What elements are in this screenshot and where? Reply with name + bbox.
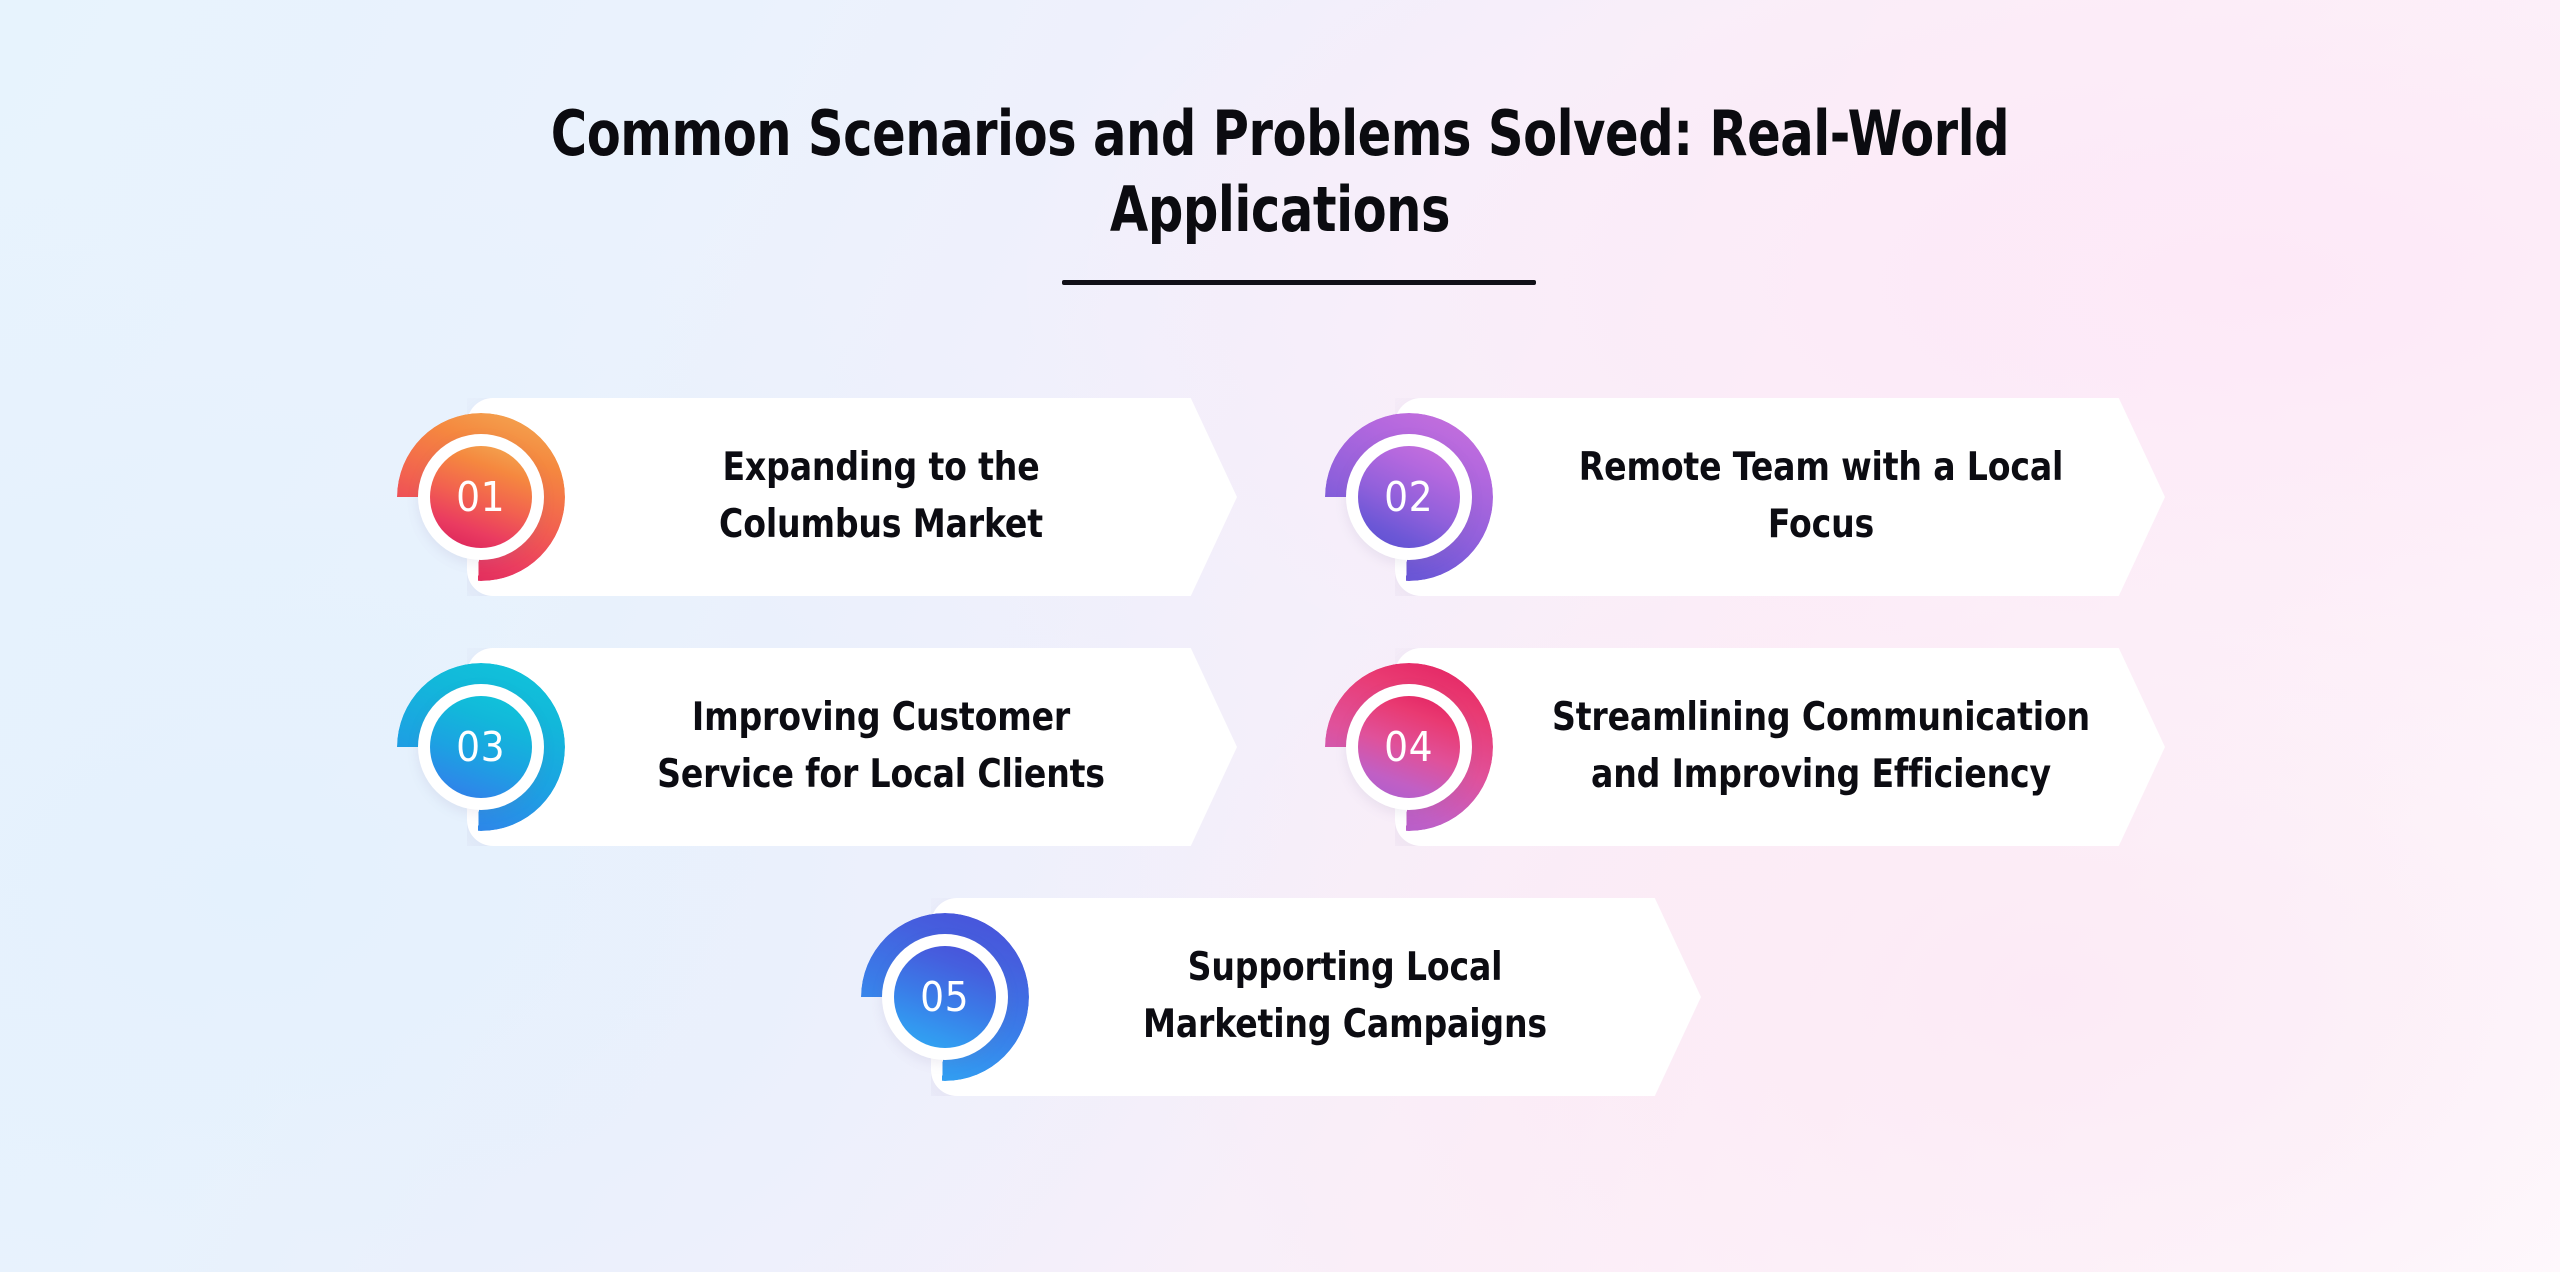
badge-disc: 01	[430, 446, 532, 548]
cards-row-3: 05 Supporting Local Marketing Campaigns	[0, 898, 2560, 1096]
badge-number: 05	[921, 977, 970, 1018]
page-title: Common Scenarios and Problems Solved: Re…	[520, 96, 2040, 247]
badge-number: 02	[1385, 477, 1434, 518]
badge-number: 03	[457, 727, 506, 768]
badge-disc: 02	[1358, 446, 1460, 548]
card-label-wrap: Streamlining Communication and Improving…	[1501, 648, 2141, 846]
title-divider	[1062, 280, 1536, 285]
card-label: Supporting Local Marketing Campaigns	[1090, 940, 1600, 1053]
card-01[interactable]: 01 Expanding to the Columbus Market	[395, 398, 1237, 596]
card-02[interactable]: 02 Remote Team with a Local Focus	[1323, 398, 2165, 596]
cards-row-1: 01 Expanding to the Columbus Market 02	[0, 398, 2560, 596]
card-label-wrap: Supporting Local Marketing Campaigns	[1045, 898, 1645, 1096]
card-label: Expanding to the Columbus Market	[626, 440, 1136, 553]
badge-number: 04	[1385, 727, 1434, 768]
card-label-wrap: Remote Team with a Local Focus	[1501, 398, 2141, 596]
number-badge-03: 03	[397, 663, 565, 831]
cards-row-2: 03 Improving Customer Service for Local …	[0, 648, 2560, 846]
card-label: Streamlining Communication and Improving…	[1549, 690, 2093, 803]
card-label-wrap: Expanding to the Columbus Market	[581, 398, 1181, 596]
card-03[interactable]: 03 Improving Customer Service for Local …	[395, 648, 1237, 846]
card-label: Remote Team with a Local Focus	[1549, 440, 2093, 553]
slide-root: Common Scenarios and Problems Solved: Re…	[0, 0, 2560, 1272]
number-badge-01: 01	[397, 413, 565, 581]
badge-disc: 05	[894, 946, 996, 1048]
card-label-wrap: Improving Customer Service for Local Cli…	[581, 648, 1181, 846]
badge-disc: 04	[1358, 696, 1460, 798]
cards-container: 01 Expanding to the Columbus Market 02	[0, 398, 2560, 1148]
card-05[interactable]: 05 Supporting Local Marketing Campaigns	[859, 898, 1701, 1096]
number-badge-02: 02	[1325, 413, 1493, 581]
badge-number: 01	[457, 477, 506, 518]
slide-header: Common Scenarios and Problems Solved: Re…	[0, 96, 2560, 285]
number-badge-05: 05	[861, 913, 1029, 1081]
number-badge-04: 04	[1325, 663, 1493, 831]
card-label: Improving Customer Service for Local Cli…	[626, 690, 1136, 803]
card-04[interactable]: 04 Streamlining Communication and Improv…	[1323, 648, 2165, 846]
badge-disc: 03	[430, 696, 532, 798]
